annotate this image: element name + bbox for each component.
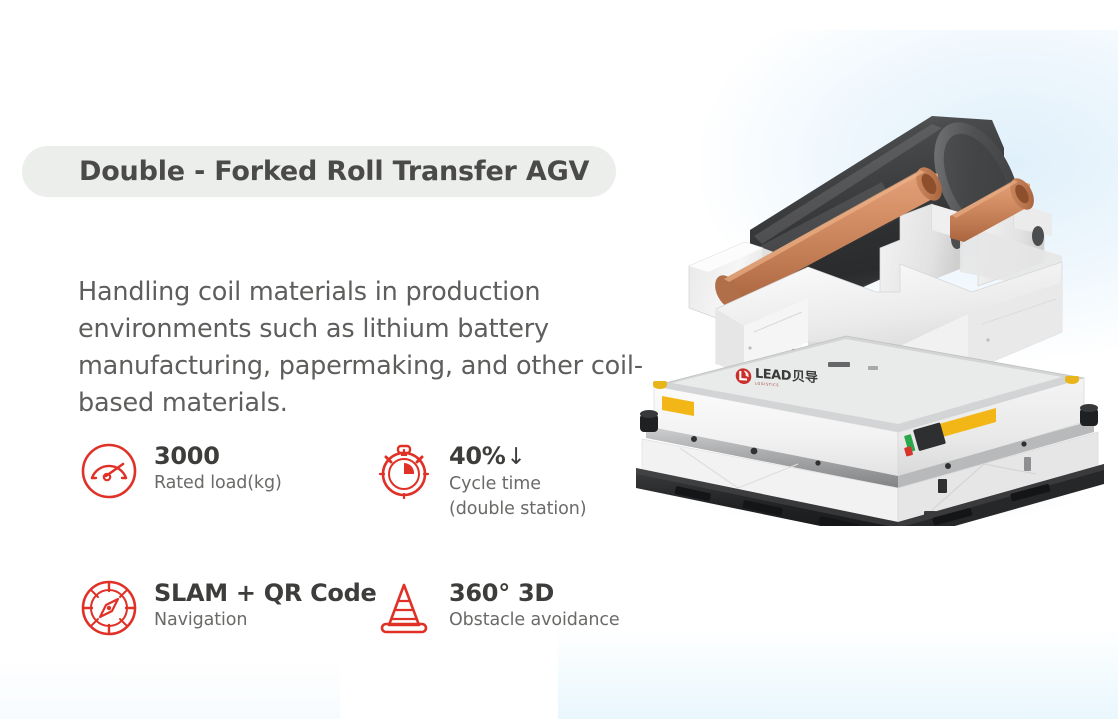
product-description: Handling coil materials in production en…	[78, 274, 648, 422]
page-title: Double - Forked Roll Transfer AGV	[79, 156, 589, 187]
feature-row-spacer	[78, 521, 658, 577]
product-slide: LEAD 贝导 LOGISTICS Double - Forked Roll T…	[0, 0, 1118, 719]
feature-row-1: 3000 Rated load(kg)	[78, 440, 658, 521]
feature-value-text: 3000	[154, 443, 220, 470]
feature-value-text: SLAM + QR Code	[154, 580, 376, 607]
feature-list: 3000 Rated load(kg)	[78, 440, 658, 639]
logo-chinese-name: 贝导	[792, 371, 818, 385]
stopwatch-icon	[373, 440, 435, 502]
background-wash-bottom-right	[558, 629, 1118, 719]
feature-text: 360° 3D Obstacle avoidance	[449, 577, 620, 632]
logo-text-stack: LEAD 贝导 LOGISTICS	[755, 368, 818, 390]
feature-subtitle-line1: Navigation	[154, 609, 377, 632]
feature-value-text: 360° 3D	[449, 580, 554, 607]
feature-navigation: SLAM + QR Code Navigation	[78, 577, 373, 639]
feature-text: 3000 Rated load(kg)	[154, 440, 282, 495]
feature-rated-load: 3000 Rated load(kg)	[78, 440, 373, 521]
feature-obstacle-avoidance: 360° 3D Obstacle avoidance	[373, 577, 658, 639]
feature-subtitle-line1: Rated load(kg)	[154, 472, 282, 495]
feature-arrow: ↓	[507, 444, 526, 471]
feature-value: 360° 3D	[449, 580, 620, 607]
feature-value: 3000	[154, 443, 282, 470]
feature-cycle-time: 40% ↓ Cycle time (double station)	[373, 440, 658, 521]
gauge-icon	[78, 440, 140, 502]
feature-value-text: 40%	[449, 443, 506, 470]
background-wash-bottom-left	[0, 659, 340, 719]
feature-subtitle-line1: Obstacle avoidance	[449, 609, 620, 632]
lead-logo-mark	[735, 367, 752, 385]
compass-icon	[78, 577, 140, 639]
traffic-cone-icon	[373, 577, 435, 639]
feature-subtitle-line1: Cycle time	[449, 473, 587, 496]
feature-value: 40% ↓	[449, 443, 587, 471]
product-image-agv	[632, 96, 1112, 526]
feature-text: 40% ↓ Cycle time (double station)	[449, 440, 587, 521]
feature-subtitle-line2: (double station)	[449, 498, 587, 521]
feature-row-2: SLAM + QR Code Navigation 360° 3D	[78, 577, 658, 639]
feature-text: SLAM + QR Code Navigation	[154, 577, 377, 632]
title-pill: Double - Forked Roll Transfer AGV	[22, 146, 616, 197]
feature-value: SLAM + QR Code	[154, 580, 377, 607]
